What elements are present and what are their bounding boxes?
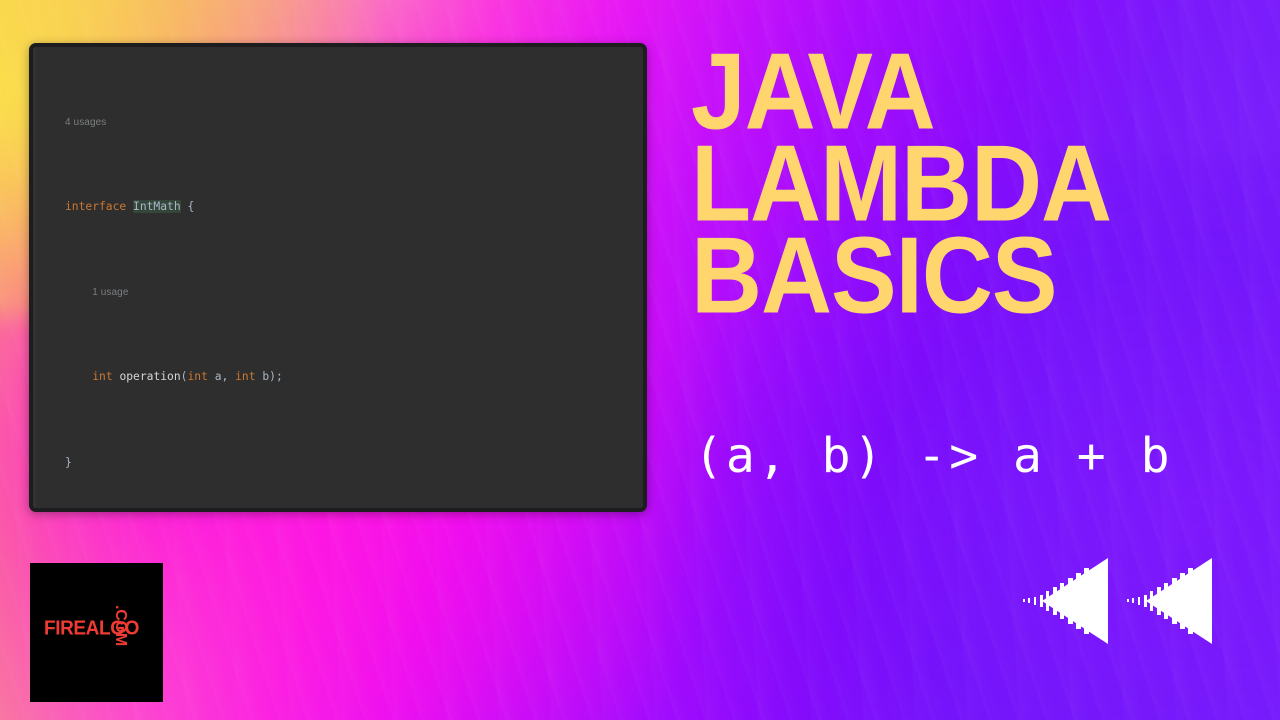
keyword-interface: interface — [65, 200, 126, 213]
lambda-expression-text: (a, b) -> a + b — [694, 428, 1172, 484]
rewind-triangle-icon — [1124, 552, 1218, 650]
code-line-usage-hint: 1 usage — [33, 281, 643, 302]
keyword-int: int — [187, 370, 207, 383]
type-intmath: IntMath — [133, 200, 181, 213]
usage-hint-label: 4 usages — [65, 117, 106, 128]
code-editor-panel[interactable]: 4 usages interface IntMath { 1 usage int… — [29, 43, 647, 512]
title-block: JAVA LAMBDA BASICS — [691, 46, 1211, 322]
logo-domain-suffix: .COM — [75, 605, 129, 623]
keyword-int: int — [92, 370, 112, 383]
rewind-icons-group — [1020, 552, 1220, 650]
brace-close: } — [65, 456, 72, 469]
code-line-usage-hint: 4 usages — [33, 111, 643, 132]
firealgo-logo[interactable]: FIREALGO .COM — [30, 563, 163, 702]
space — [126, 200, 133, 213]
usage-hint-label: 1 usage — [92, 287, 128, 298]
method-operation: operation — [119, 370, 180, 383]
code-content[interactable]: 4 usages interface IntMath { 1 usage int… — [33, 47, 643, 508]
video-thumbnail: 4 usages interface IntMath { 1 usage int… — [0, 0, 1280, 720]
rewind-triangle-icon — [1020, 552, 1114, 650]
code-line-operation-decl[interactable]: int operation(int a, int b); — [33, 366, 643, 387]
keyword-int: int — [235, 370, 255, 383]
title-line-basics: BASICS — [691, 230, 1247, 322]
paren-close-semi: ); — [269, 370, 283, 383]
code-line-brace-close[interactable]: } — [33, 452, 643, 473]
param-a: a — [215, 370, 222, 383]
brace-open: { — [181, 200, 195, 213]
comma: , — [222, 370, 236, 383]
code-line-interface-decl[interactable]: interface IntMath { — [33, 196, 643, 217]
